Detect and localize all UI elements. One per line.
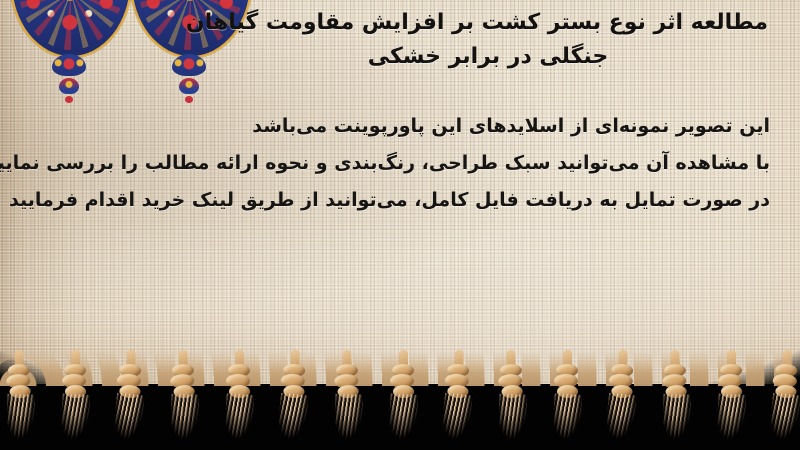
tassel-skirt [170, 394, 200, 443]
tassel-skirt [768, 393, 800, 444]
tassel-skirt [440, 393, 473, 444]
fringe-tassel [493, 359, 536, 446]
medallion-body [10, 0, 132, 58]
fringe-tassel [549, 360, 589, 446]
medallion-pendant-dot-icon [185, 96, 193, 103]
fringe-tassel [385, 360, 425, 446]
tassel-skirt [551, 393, 582, 443]
medallion-pendant-icon [52, 54, 86, 76]
fringe-tassel [274, 359, 317, 446]
slide-title-line-2: جنگلی در برابر خشکی [208, 40, 768, 74]
fringe-tassel [766, 359, 800, 446]
slide-title: مطالعه اثر نوع بستر کشت بر افزایش مقاومت… [208, 6, 768, 74]
tassel-skirt [276, 393, 309, 444]
fringe-tassel [713, 360, 753, 446]
slide-body-text: این تصویر نمونه‌ای از اسلایدهای این پاور… [32, 108, 770, 219]
fringe-tassel [221, 360, 261, 446]
medallion-pendant-dot-icon [65, 96, 73, 103]
fringe-tassel [329, 359, 372, 446]
fringe-tassel [1, 359, 44, 446]
tassel-skirt [334, 394, 364, 443]
medallion-pendant-small-icon [59, 78, 79, 94]
slide-title-line-1: مطالعه اثر نوع بستر کشت بر افزایش مقاومت… [208, 6, 768, 40]
tassel-skirt [6, 394, 36, 443]
tassel-skirt [112, 393, 145, 444]
slide-canvas: مطالعه اثر نوع بستر کشت بر افزایش مقاومت… [0, 0, 800, 450]
tassel-skirt [59, 393, 90, 443]
tassel-skirt [604, 393, 637, 444]
medallion-ornament-icon [10, 0, 128, 60]
slide-body-line-1: این تصویر نمونه‌ای از اسلایدهای این پاور… [32, 108, 770, 145]
tassel-skirt [715, 393, 746, 443]
medallion-pendant-small-icon [179, 78, 199, 94]
slide-body-line-2: با مشاهده آن می‌توانید سبک طراحی، رنگ‌بن… [32, 145, 770, 182]
tassel-skirt [223, 393, 254, 443]
fringe-tassel [438, 359, 481, 446]
medallion-pendant-icon [172, 54, 206, 76]
tassel-skirt [387, 393, 418, 443]
fringe-tassel [57, 360, 97, 446]
fringe-tassel [602, 359, 645, 446]
slide-body-line-3: در صورت تمایل به دریافت فایل کامل، می‌تو… [32, 182, 770, 219]
tassel-skirt [662, 394, 692, 443]
fringe-tassel [657, 359, 700, 446]
carpet-fringe [0, 360, 800, 450]
tassel-skirt [498, 394, 528, 443]
fringe-tassel [110, 359, 153, 446]
fringe-tassel [165, 359, 208, 446]
